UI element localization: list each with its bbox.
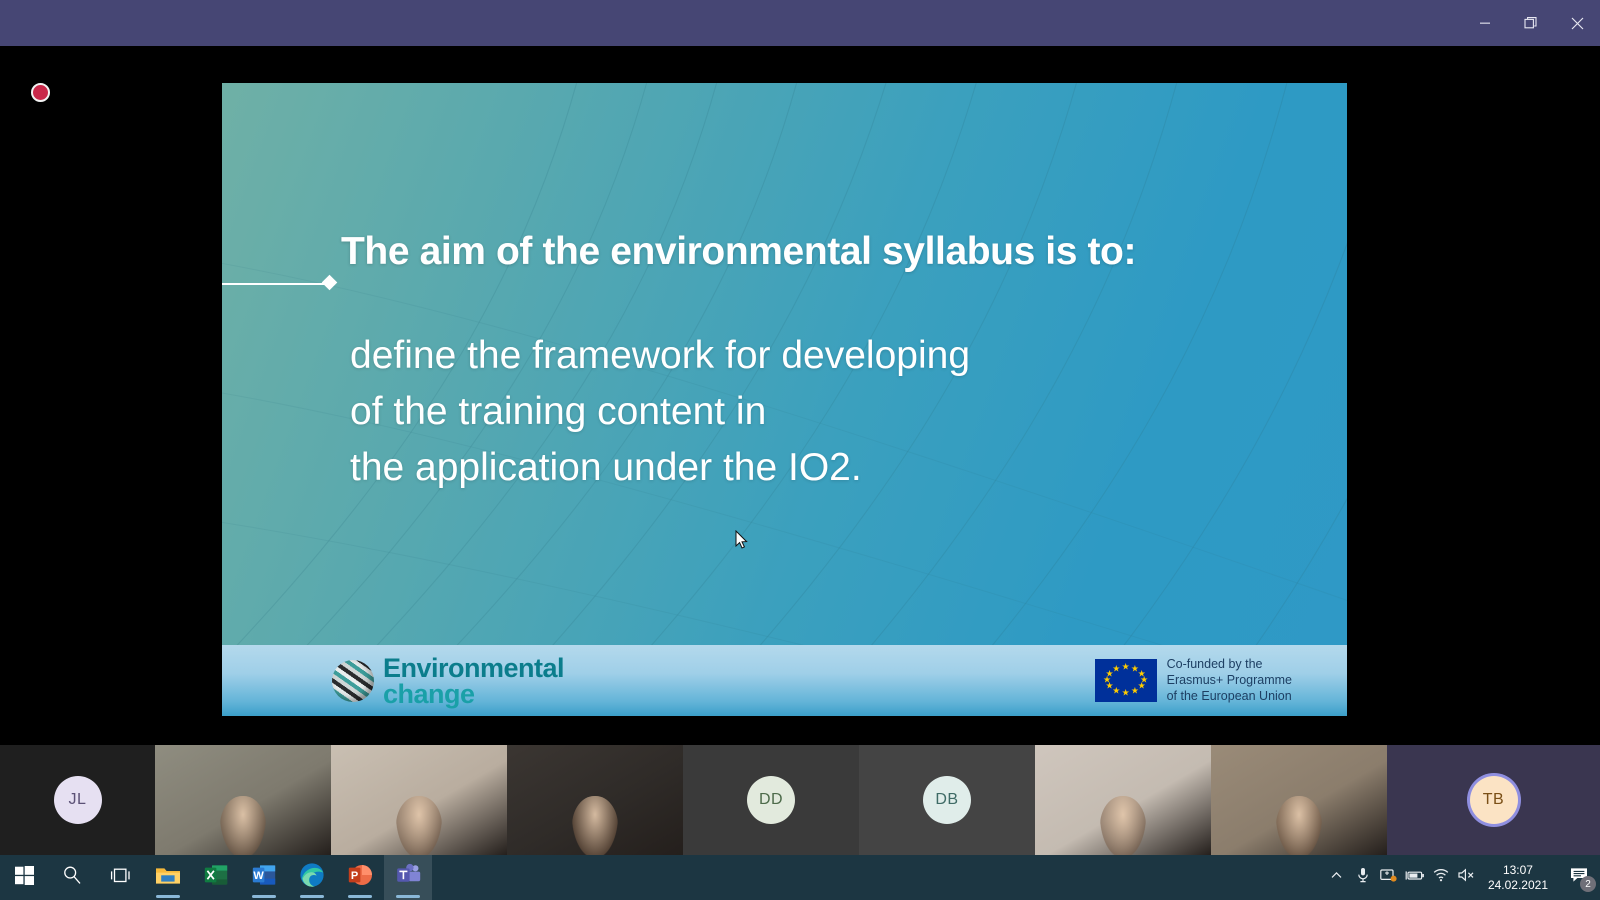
powerpoint-button[interactable]: P (336, 855, 384, 900)
edge-icon (299, 862, 325, 893)
running-indicator (300, 895, 324, 898)
battery-icon (1405, 869, 1425, 887)
minimize-button[interactable] (1462, 0, 1508, 46)
meeting-stage: The aim of the environmental syllabus is… (0, 46, 1600, 745)
notifications-button[interactable]: 2 (1558, 855, 1600, 900)
restore-icon (1524, 16, 1538, 30)
word-button[interactable]: W (240, 855, 288, 900)
video-feed (155, 745, 331, 855)
participant-video-4[interactable] (1035, 745, 1211, 855)
powerpoint-icon: P (348, 863, 372, 892)
running-indicator (396, 895, 420, 898)
close-icon (1571, 17, 1584, 30)
close-button[interactable] (1554, 0, 1600, 46)
eu-star-icon: ★ (1122, 663, 1130, 672)
slide-body-line: define the framework for developing (350, 328, 1250, 384)
running-indicator (252, 895, 276, 898)
brand-line-1: Environmental (383, 655, 564, 681)
search-button[interactable] (48, 855, 96, 900)
camera-icon (1380, 868, 1397, 887)
eu-cofunding-text: Co-funded by the Erasmus+ Programme of t… (1167, 656, 1292, 704)
eu-star-icon: ★ (1131, 687, 1139, 696)
video-person (220, 796, 266, 855)
avatar: TB (1470, 776, 1518, 824)
globe-logo-icon (332, 660, 374, 702)
camera-status-icon[interactable] (1376, 855, 1402, 900)
volume-status-icon[interactable] (1454, 855, 1480, 900)
minimize-icon (1479, 17, 1491, 29)
teams-icon (396, 863, 421, 892)
participant-strip: JLDDDBTB (0, 745, 1600, 855)
eu-line-3: of the European Union (1167, 688, 1292, 704)
participant-video-1[interactable] (155, 745, 331, 855)
slide-body-line: the application under the IO2. (350, 440, 1250, 496)
brand-line-2: change (383, 681, 564, 707)
running-indicator (156, 895, 180, 898)
file-explorer-button[interactable] (144, 855, 192, 900)
show-hidden-icons-button[interactable] (1324, 855, 1350, 900)
system-tray: 13:07 24.02.2021 2 (1324, 855, 1600, 900)
window-titlebar (0, 0, 1600, 46)
slide-title: The aim of the environmental syllabus is… (341, 230, 1301, 274)
windows-taskbar: W P (0, 855, 1600, 900)
windows-logo-icon (15, 866, 34, 890)
video-feed (1211, 745, 1387, 855)
eu-cofunding-logo: ★★★★★★★★★★★★ Co-funded by the Erasmus+ P… (1095, 656, 1292, 704)
participant-dd[interactable]: DD (683, 745, 859, 855)
environmental-change-logo: Environmental change (332, 655, 564, 708)
video-person (1100, 796, 1146, 855)
start-button[interactable] (0, 855, 48, 900)
video-person (396, 796, 442, 855)
microphone-status-icon[interactable] (1350, 855, 1376, 900)
network-status-icon[interactable] (1428, 855, 1454, 900)
task-view-button[interactable] (96, 855, 144, 900)
eu-line-2: Erasmus+ Programme (1167, 672, 1292, 688)
participant-video-5[interactable] (1211, 745, 1387, 855)
speaker-muted-icon (1458, 868, 1476, 887)
search-icon (62, 865, 82, 890)
participant-tb[interactable]: TB (1387, 745, 1600, 855)
eu-star-icon: ★ (1112, 664, 1120, 673)
shared-slide[interactable]: The aim of the environmental syllabus is… (222, 83, 1347, 716)
wifi-icon (1433, 868, 1449, 887)
slide-accent-line (222, 283, 328, 285)
recording-dot-icon (31, 83, 50, 102)
participant-jl[interactable]: JL (0, 745, 155, 855)
avatar: DB (923, 776, 971, 824)
word-icon: W (252, 863, 276, 892)
running-indicator (348, 895, 372, 898)
arrow-cursor-icon (735, 530, 748, 549)
participant-video-2[interactable] (331, 745, 507, 855)
clock-date: 24.02.2021 (1488, 878, 1548, 893)
slide-body-line: of the training content in (350, 384, 1250, 440)
chevron-up-icon (1330, 869, 1343, 887)
excel-icon (204, 863, 228, 892)
svg-text:P: P (351, 870, 358, 882)
video-person (572, 796, 618, 855)
video-feed (1035, 745, 1211, 855)
notification-badge: 2 (1580, 876, 1596, 892)
clock-time: 13:07 (1488, 863, 1548, 878)
restore-button[interactable] (1508, 0, 1554, 46)
video-person (1276, 796, 1322, 855)
participant-video-3[interactable] (507, 745, 683, 855)
brand-text: Environmental change (383, 655, 564, 708)
teams-button[interactable] (384, 855, 432, 900)
battery-status-icon[interactable] (1402, 855, 1428, 900)
microphone-icon (1356, 867, 1370, 888)
avatar: JL (54, 776, 102, 824)
video-feed (507, 745, 683, 855)
task-view-icon (110, 866, 131, 890)
eu-star-icon: ★ (1122, 688, 1130, 697)
video-feed (331, 745, 507, 855)
folder-icon (155, 864, 181, 891)
slide-footer: Environmental change ★★★★★★★★★★★★ Co-fun… (222, 645, 1347, 716)
eu-flag-icon: ★★★★★★★★★★★★ (1095, 659, 1157, 702)
taskbar-clock[interactable]: 13:07 24.02.2021 (1480, 863, 1558, 893)
edge-button[interactable] (288, 855, 336, 900)
participant-db[interactable]: DB (859, 745, 1035, 855)
excel-button[interactable] (192, 855, 240, 900)
avatar: DD (747, 776, 795, 824)
slide-body: define the framework for developing of t… (350, 328, 1250, 496)
svg-text:W: W (253, 870, 264, 882)
eu-line-1: Co-funded by the (1167, 656, 1292, 672)
